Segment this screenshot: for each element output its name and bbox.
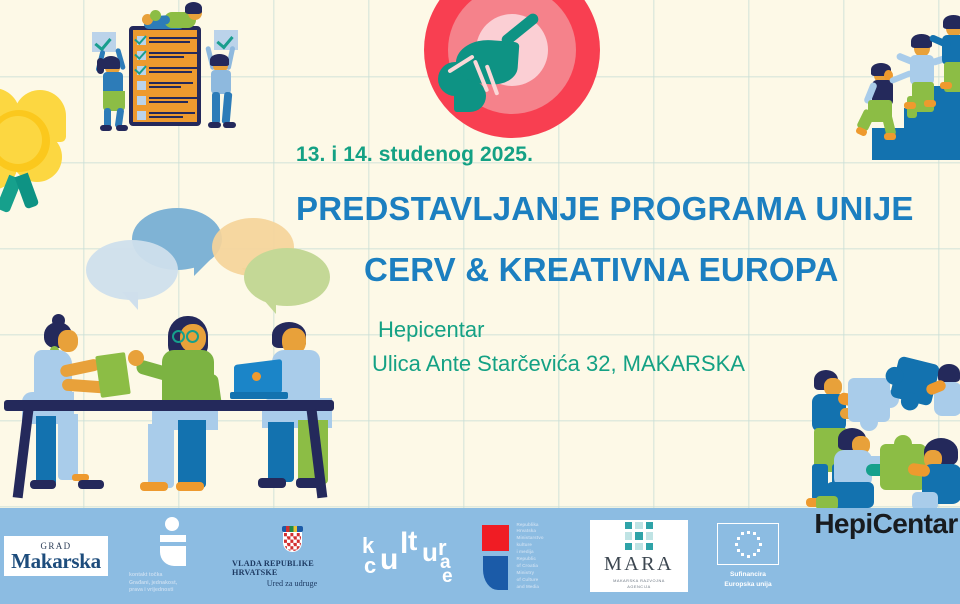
eu-caption: Sufinancira Europska unija: [724, 570, 771, 590]
event-poster: 13. i 14. studenog 2025. PREDSTAVLJANJE …: [0, 0, 960, 604]
hepicentar-wordmark: HepiCentar: [814, 508, 957, 540]
logo-eu-cofunded: Sufinancira Europska unija: [694, 508, 802, 604]
cerv-speech-mark-icon: [152, 517, 192, 567]
eu-caption-line1: Sufinancira: [724, 570, 771, 580]
logo-ministarstvo-kulture-i-medija: Republika Hrvatska Ministarstvo kulture …: [464, 508, 584, 604]
checklist-clipboard-illustration: [92, 0, 262, 148]
ministry-caption-hr: Republika Hrvatska Ministarstvo kulture …: [517, 522, 567, 556]
kultura-letter-u2: u: [422, 539, 438, 565]
event-title-line-1: PREDSTAVLJANJE PROGRAMA UNIJE: [296, 190, 946, 228]
logo-mara-agencija: MARA MAKARSKA RAZVOJNA AGENCIJA: [584, 508, 694, 604]
cerv-caption: kontakt točka Građani, jednakost, prava …: [129, 572, 215, 595]
mara-logo-box: MARA MAKARSKA RAZVOJNA AGENCIJA: [590, 520, 688, 592]
table-top: [4, 400, 334, 411]
green-book: [95, 352, 131, 398]
stairs-climbing-illustration: [830, 0, 960, 160]
puzzle-piece-lightblue: [848, 378, 890, 422]
ministry-caption-group: Republika Hrvatska Ministarstvo kulture …: [517, 522, 567, 591]
vlada-title: VLADA REPUBLIKE HRVATSKE: [232, 559, 352, 577]
mara-subtitle: MAKARSKA RAZVOJNA AGENCIJA: [613, 578, 665, 590]
vlada-office: Ured za udruge: [267, 579, 317, 588]
sponsor-logo-bar: GRAD Makarska kontakt točka Građani, jed…: [0, 508, 960, 604]
logo-hepicentar: HepiCentar: [802, 508, 960, 604]
dart-target-illustration: [424, 0, 600, 138]
mara-grid-icon: [625, 522, 653, 550]
event-title-line-2: CERV & KREATIVNA EUROPA: [364, 251, 946, 289]
venue-address: Ulica Ante Starčevića 32, MAKARSKA: [372, 347, 946, 381]
laptop-base: [230, 392, 288, 399]
clipboard: [129, 26, 201, 126]
flower-rosette-illustration: [0, 88, 80, 200]
mara-title: MARA: [604, 554, 674, 574]
eu-caption-line2: Europska unija: [724, 580, 771, 590]
logo-grad-makarska: GRAD Makarska: [0, 508, 112, 604]
event-date: 13. i 14. studenog 2025.: [296, 142, 946, 167]
ministry-caption-en: Republic of Croatia Ministry of Culture …: [517, 556, 567, 590]
meeting-table-illustration: [0, 288, 340, 503]
eu-flag-icon: [717, 523, 779, 565]
kultura-letter-c: c: [364, 555, 376, 577]
logo-vlada-republike-hrvatske: VLADA REPUBLIKE HRVATSKE Ured za udruge: [232, 508, 352, 604]
makarska-name: Makarska: [11, 551, 101, 572]
makarska-logo-box: GRAD Makarska: [4, 536, 108, 576]
ministry-quotation-mark-icon: [482, 523, 512, 589]
kultura-letter-t: t: [408, 527, 417, 555]
kultura-wordmark: k c u l t u r a e: [362, 525, 454, 587]
logo-cerv-contact-point: kontakt točka Građani, jednakost, prava …: [112, 508, 232, 604]
kultura-letter-u: u: [380, 545, 398, 575]
event-venue: Hepicentar Ulica Ante Starčevića 32, MAK…: [378, 313, 946, 381]
checkmark-sign-left: [92, 32, 116, 52]
croatian-coat-of-arms-icon: [279, 525, 305, 555]
event-text-block: 13. i 14. studenog 2025. PREDSTAVLJANJE …: [296, 142, 946, 381]
venue-name: Hepicentar: [378, 313, 946, 347]
logo-kultura: k c u l t u r a e: [352, 508, 464, 604]
kultura-letter-e: e: [442, 567, 453, 586]
